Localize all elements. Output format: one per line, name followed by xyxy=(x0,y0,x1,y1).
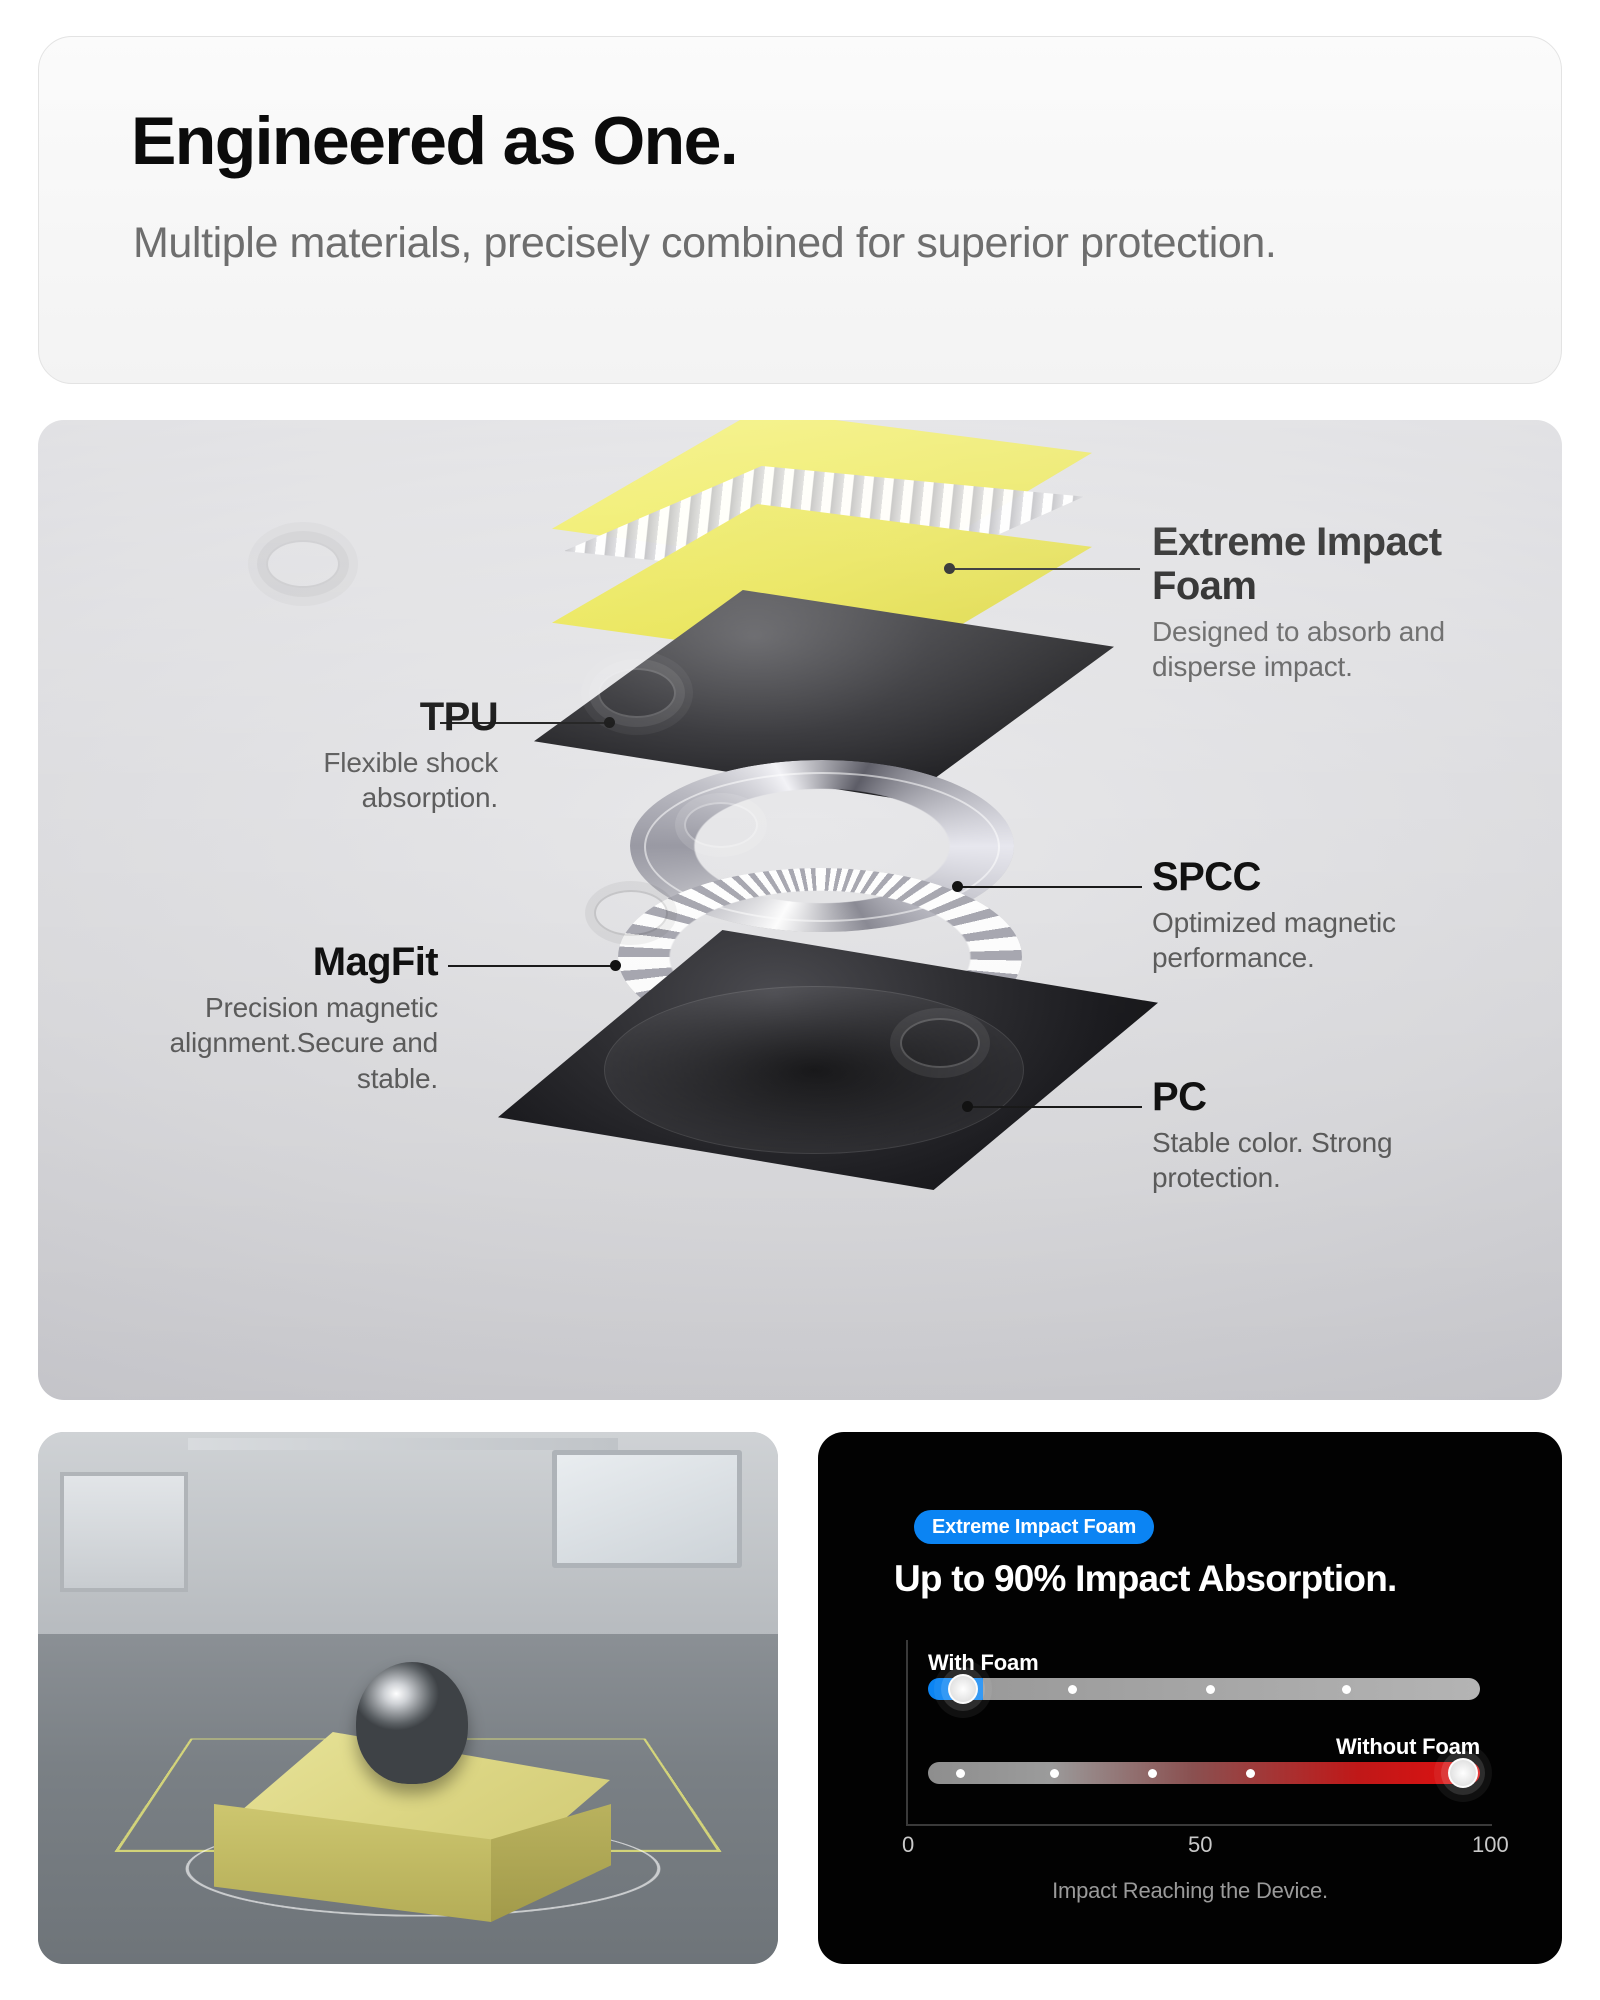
callout-pc: PC Stable color. Strong protection. xyxy=(1152,1075,1492,1196)
spcc-callout-target-icon xyxy=(684,802,758,848)
callout-tpu: TPU Flexible shock absorption. xyxy=(218,695,498,816)
x-tick-100: 100 xyxy=(1472,1832,1509,1858)
callout-name: TPU xyxy=(218,695,498,739)
x-tick-50: 50 xyxy=(1188,1832,1212,1858)
status-badge: Extreme Impact Foam xyxy=(914,1510,1154,1544)
leader-dot-spcc xyxy=(952,881,963,892)
callout-name: MagFit xyxy=(128,940,438,984)
page-title: Engineered as One. xyxy=(131,107,737,175)
leader-line-spcc xyxy=(958,886,1142,888)
leader-dot-tpu xyxy=(604,717,615,728)
drop-test-photo-card xyxy=(38,1432,778,1964)
track-tick-dot xyxy=(1206,1685,1215,1694)
chart-y-axis xyxy=(906,1640,908,1824)
track-tick-dot xyxy=(1246,1769,1255,1778)
exploded-stage: Extreme Impact Foam Designed to absorb a… xyxy=(38,420,1562,1400)
leader-dot-pc xyxy=(962,1101,973,1112)
impact-steel-ball xyxy=(356,1662,468,1784)
callout-name: Extreme Impact Foam xyxy=(1152,520,1492,608)
series-track-with-foam[interactable] xyxy=(928,1678,1480,1700)
callout-name: SPCC xyxy=(1152,855,1492,899)
impact-absorption-chart-card: Extreme Impact Foam Up to 90% Impact Abs… xyxy=(818,1432,1562,1964)
tpu-callout-target-icon xyxy=(598,668,676,718)
leader-line-pc xyxy=(968,1106,1142,1108)
callout-desc: Optimized magnetic performance. xyxy=(1152,905,1492,976)
track-tick-dot xyxy=(1068,1685,1077,1694)
lab-door xyxy=(60,1472,188,1592)
magfit-callout-target-icon xyxy=(594,890,668,936)
callout-spcc: SPCC Optimized magnetic performance. xyxy=(1152,855,1492,976)
slider-knob-with-foam[interactable] xyxy=(948,1674,978,1704)
chart-x-axis-label: Impact Reaching the Device. xyxy=(818,1878,1562,1904)
track-tick-dot xyxy=(1342,1685,1351,1694)
foam-callout-target-icon xyxy=(266,540,340,588)
track-tick-dot xyxy=(1148,1769,1157,1778)
exploded-view-card: Extreme Impact Foam Designed to absorb a… xyxy=(38,420,1562,1400)
leader-dot-foam xyxy=(944,563,955,574)
pc-inner-recess xyxy=(604,986,1024,1154)
series-label-with-foam: With Foam xyxy=(928,1650,1038,1676)
chart-x-axis xyxy=(906,1824,1492,1826)
callout-desc: Precision magnetic alignment.Secure and … xyxy=(128,990,438,1096)
lab-window xyxy=(552,1450,742,1568)
page-subtitle: Multiple materials, precisely combined f… xyxy=(133,215,1276,272)
series-label-without-foam: Without Foam xyxy=(1336,1734,1480,1760)
leader-line-magfit xyxy=(448,965,616,967)
callout-extreme-impact-foam: Extreme Impact Foam Designed to absorb a… xyxy=(1152,520,1492,685)
leader-dot-magfit xyxy=(610,960,621,971)
chart-title: Up to 90% Impact Absorption. xyxy=(894,1558,1514,1599)
callout-magfit: MagFit Precision magnetic alignment.Secu… xyxy=(128,940,438,1096)
infographic-page: Engineered as One. Multiple materials, p… xyxy=(0,0,1600,2000)
pc-callout-target-icon xyxy=(900,1018,980,1068)
series-track-without-foam[interactable] xyxy=(928,1762,1480,1784)
x-tick-0: 0 xyxy=(902,1832,914,1858)
track-tick-dot xyxy=(1050,1769,1059,1778)
leader-line-foam xyxy=(950,568,1140,570)
callout-desc: Stable color. Strong protection. xyxy=(1152,1125,1492,1196)
callout-desc: Flexible shock absorption. xyxy=(218,745,498,816)
track-tick-dot xyxy=(956,1769,965,1778)
callout-desc: Designed to absorb and disperse impact. xyxy=(1152,614,1492,685)
header-card: Engineered as One. Multiple materials, p… xyxy=(38,36,1562,384)
slider-knob-without-foam[interactable] xyxy=(1448,1758,1478,1788)
lab-ceiling-beam xyxy=(188,1438,618,1450)
callout-name: PC xyxy=(1152,1075,1492,1119)
